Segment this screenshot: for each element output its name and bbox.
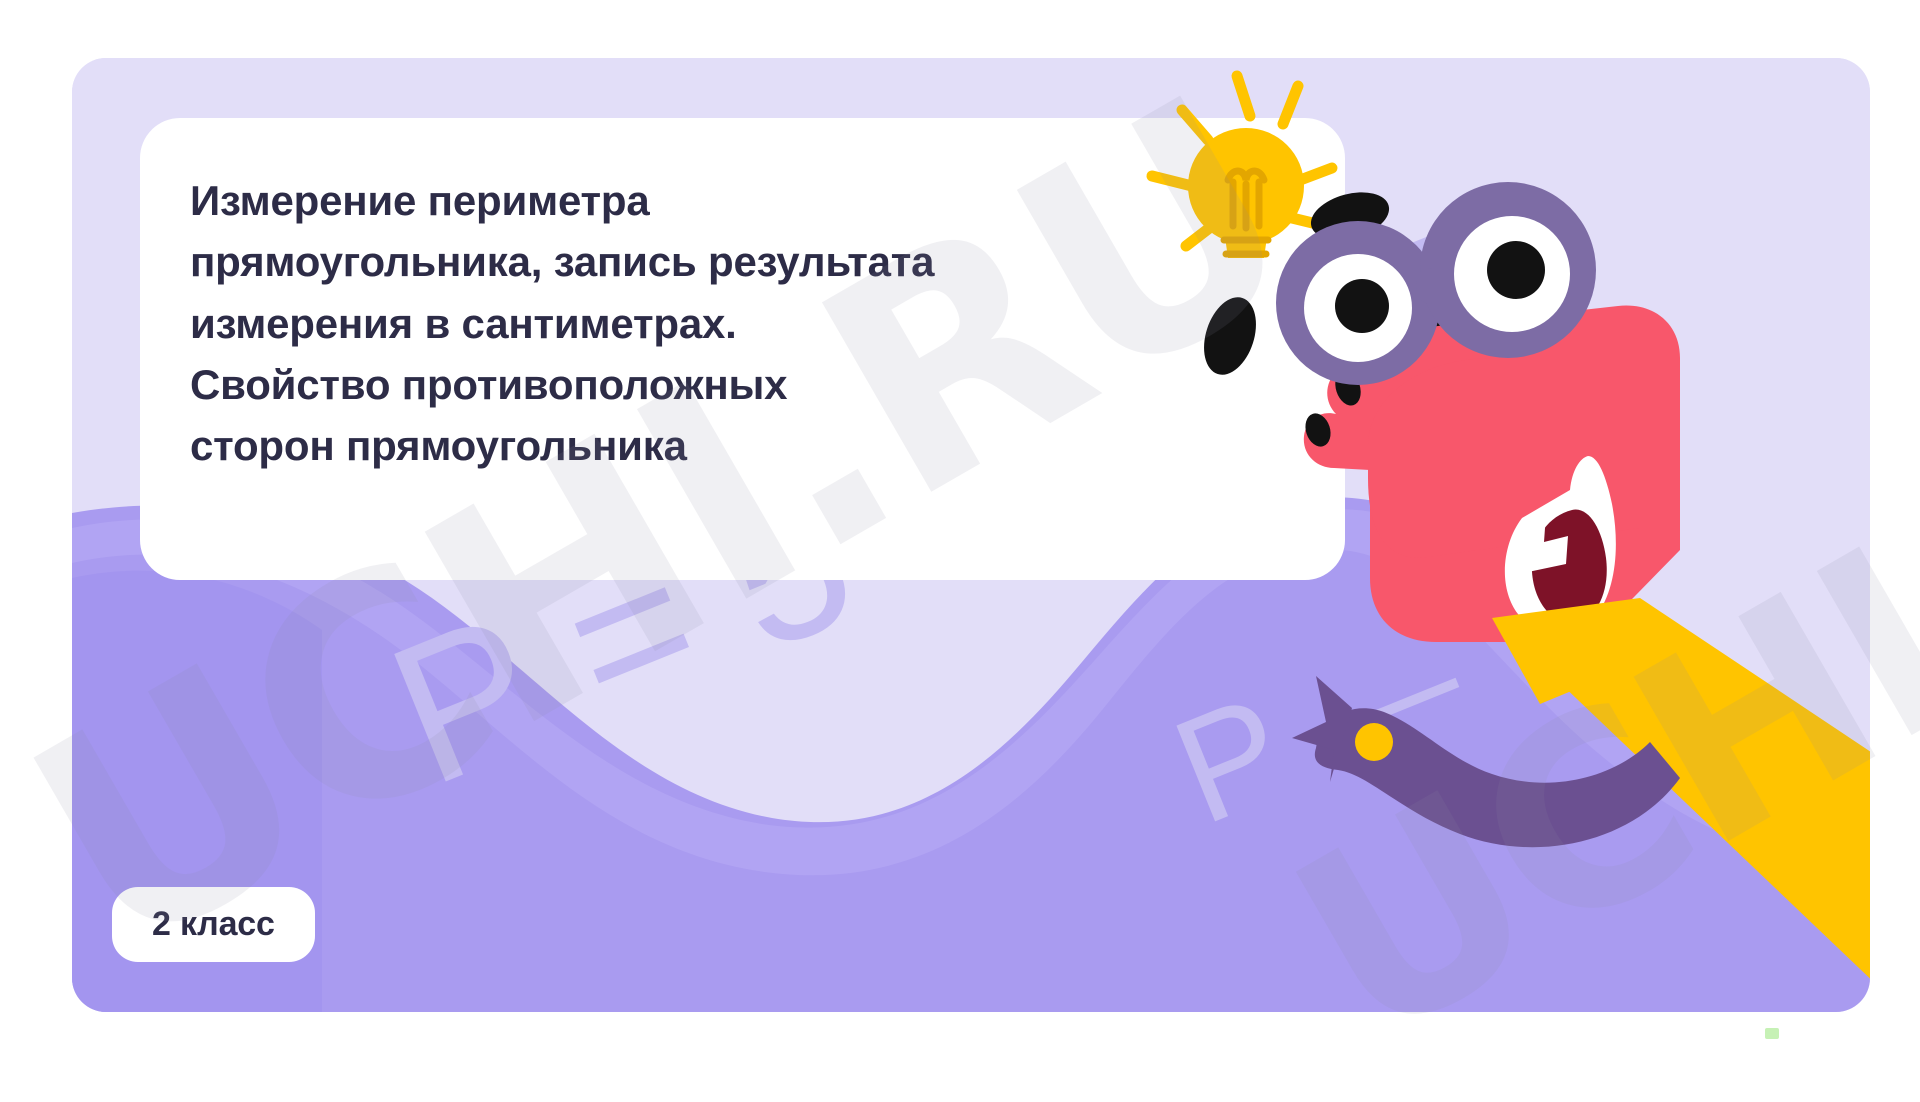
dino-spikes [1420, 276, 1610, 598]
dino-tail-fin [1292, 676, 1352, 782]
pencil-icon [1492, 598, 1870, 988]
grade-badge-label: 2 класс [152, 905, 275, 943]
dino-tail [1315, 708, 1680, 847]
grade-badge: 2 класс [112, 887, 315, 962]
dino-teeth [1520, 514, 1568, 572]
title-panel: Измерение периметра прямоугольника, запи… [140, 118, 1345, 580]
dino-mouth-inner [1532, 510, 1607, 623]
dino-head [1304, 306, 1680, 642]
background-math-line-2: P — ? [1152, 543, 1601, 859]
page-title-line-5: сторон прямоугольника [190, 415, 1310, 476]
page-artifact-mark [1765, 1028, 1779, 1039]
lesson-cover-card: P = 5 + 5 + 5 P — ? [72, 58, 1870, 1012]
pencil-tip [1492, 618, 1598, 704]
dino-mouth [1505, 456, 1616, 635]
dino-snout [1368, 358, 1640, 558]
page-title-line-4: Свойство противоположных [190, 354, 1310, 415]
page-title-line-3: измерения в сантиметрах. [190, 293, 1310, 354]
page-title-line-1: Измерение периметра [190, 170, 1310, 231]
page-title: Измерение периметра прямоугольника, запи… [190, 170, 1310, 477]
page-title-line-2: прямоугольника, запись результата [190, 231, 1310, 292]
dino-tail-dot [1355, 723, 1393, 761]
